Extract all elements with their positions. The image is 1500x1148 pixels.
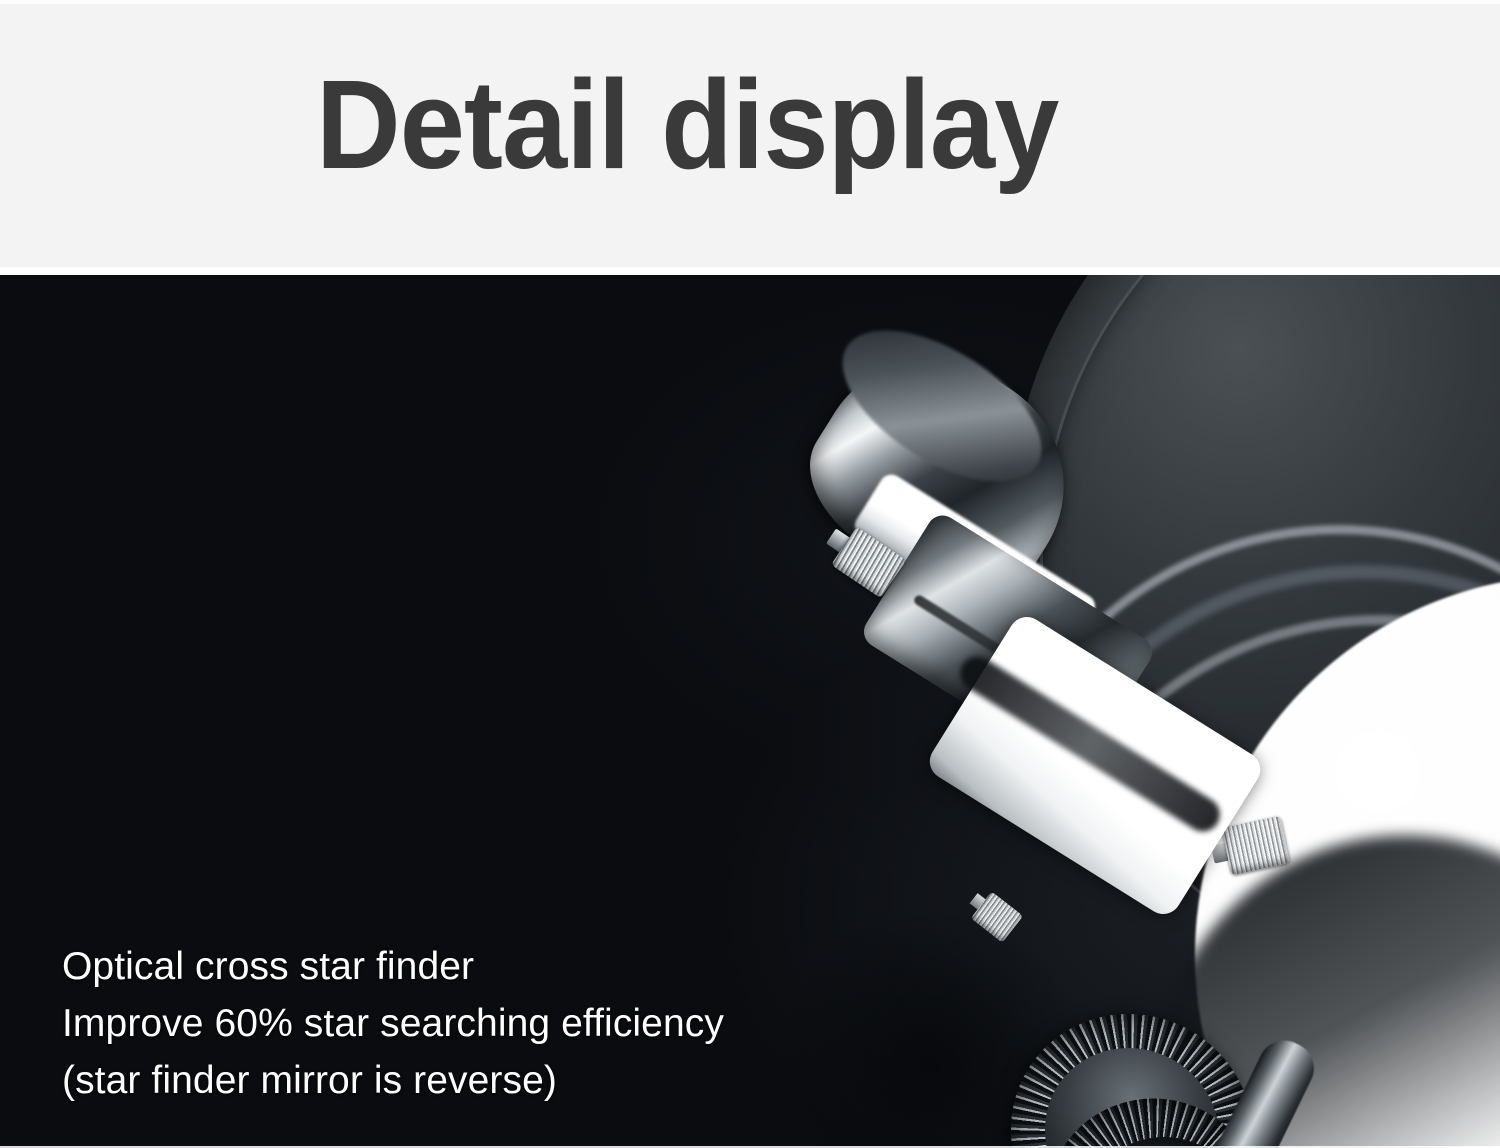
thumbscrew-icon-body [963,885,1023,943]
product-photo: Optical cross star finder Improve 60% st… [0,275,1500,1148]
caption-line-3: (star finder mirror is reverse) [62,1052,882,1109]
caption-line-1: Optical cross star finder [62,938,882,995]
caption-line-2: Improve 60% star searching efficiency [62,995,882,1052]
page-title: Detail display [316,62,1058,188]
product-detail-page: Detail display [0,0,1500,1148]
header-banner: Detail display [0,0,1500,272]
finder-eyepiece-assembly [1000,1015,1420,1148]
caption-block: Optical cross star finder Improve 60% st… [62,938,882,1109]
